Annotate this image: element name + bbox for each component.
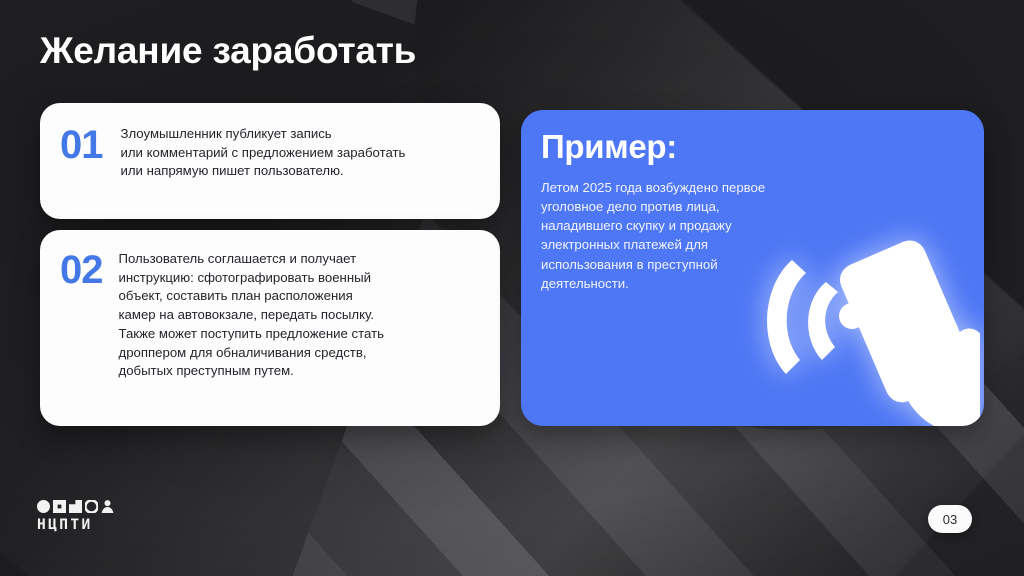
step-text-line: или комментарий с предложением заработат… xyxy=(121,144,487,163)
quarter-round-step-glyph xyxy=(69,500,82,513)
circle-outline-glyph xyxy=(85,500,98,513)
example-panel: Пример: Летом 2025 года возбуждено перво… xyxy=(521,110,984,426)
step-text-02: Пользователь соглашается и получает инст… xyxy=(119,250,487,381)
step-number-02: 02 xyxy=(60,250,103,290)
example-text-line: Летом 2025 года возбуждено первое xyxy=(541,178,851,197)
step-text-line: дроппером для обналичивания средств, xyxy=(119,344,487,363)
example-text-line: наладившего скупку и продажу xyxy=(541,216,851,235)
step-text-line: или напрямую пишет пользователю. xyxy=(121,162,487,181)
logo-wordmark: НЦПТИ xyxy=(37,517,129,533)
pacman-circle-glyph xyxy=(37,500,50,513)
step-text-line: Злоумышленник публикует запись xyxy=(121,125,487,144)
logo: НЦПТИ xyxy=(37,500,129,533)
slide: Желание заработать 01 Злоумышленник публ… xyxy=(0,0,1024,576)
step-card-01: 01 Злоумышленник публикует запись или ко… xyxy=(40,103,500,219)
page-title: Желание заработать xyxy=(40,30,416,72)
step-text-line: Также может поступить предложение стать xyxy=(119,325,487,344)
person-glyph xyxy=(101,500,114,513)
example-text-line: уголовное дело против лица, xyxy=(541,197,851,216)
nfc-contactless-payment-icon xyxy=(740,240,980,426)
square-with-dot-glyph xyxy=(53,500,66,513)
page-number-badge: 03 xyxy=(928,505,972,533)
step-card-02: 02 Пользователь соглашается и получает и… xyxy=(40,230,500,426)
step-number-01: 01 xyxy=(60,125,103,165)
step-text-line: добытых преступным путем. xyxy=(119,362,487,381)
step-text-01: Злоумышленник публикует запись или комме… xyxy=(121,125,487,181)
step-text-line: инструкцию: сфотографировать военный xyxy=(119,269,487,288)
step-text-line: камер на автовокзале, передать посылку. xyxy=(119,306,487,325)
logo-glyph-row xyxy=(37,500,129,513)
step-text-line: Пользователь соглашается и получает xyxy=(119,250,487,269)
example-panel-title: Пример: xyxy=(541,128,677,166)
step-text-line: объект, составить план расположения xyxy=(119,287,487,306)
